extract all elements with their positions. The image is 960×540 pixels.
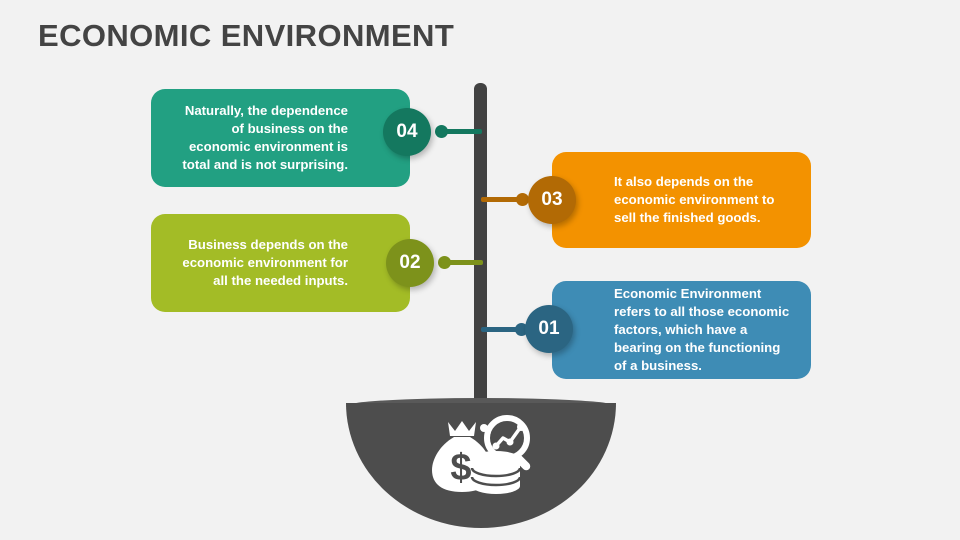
number-badge-02-label: 02 [399,252,420,274]
info-card-03[interactable]: It also depends on the economic environm… [552,152,811,248]
slide-canvas: ECONOMIC ENVIRONMENT $ [0,0,960,540]
info-card-02-text: Business depends on the economic environ… [171,236,348,290]
center-pole [474,83,487,423]
connector-dot-04 [435,125,448,138]
info-card-03-text: It also depends on the economic environm… [614,173,791,227]
info-card-01[interactable]: Economic Environment refers to all those… [552,281,811,379]
info-card-01-text: Economic Environment refers to all those… [614,285,791,375]
number-badge-02[interactable]: 02 [386,239,434,287]
info-card-04-text: Naturally, the dependence of business on… [171,102,348,174]
page-title: ECONOMIC ENVIRONMENT [38,18,454,54]
info-card-02[interactable]: Business depends on the economic environ… [151,214,410,312]
number-badge-01-label: 01 [538,318,559,340]
info-card-04[interactable]: Naturally, the dependence of business on… [151,89,410,187]
money-bag-coins-magnifier-icon: $ [424,414,538,496]
number-badge-04-label: 04 [396,121,417,143]
number-badge-04[interactable]: 04 [383,108,431,156]
number-badge-03-label: 03 [541,189,562,211]
number-badge-01[interactable]: 01 [525,305,573,353]
svg-text:$: $ [450,447,471,489]
connector-dot-02 [438,256,451,269]
number-badge-03[interactable]: 03 [528,176,576,224]
